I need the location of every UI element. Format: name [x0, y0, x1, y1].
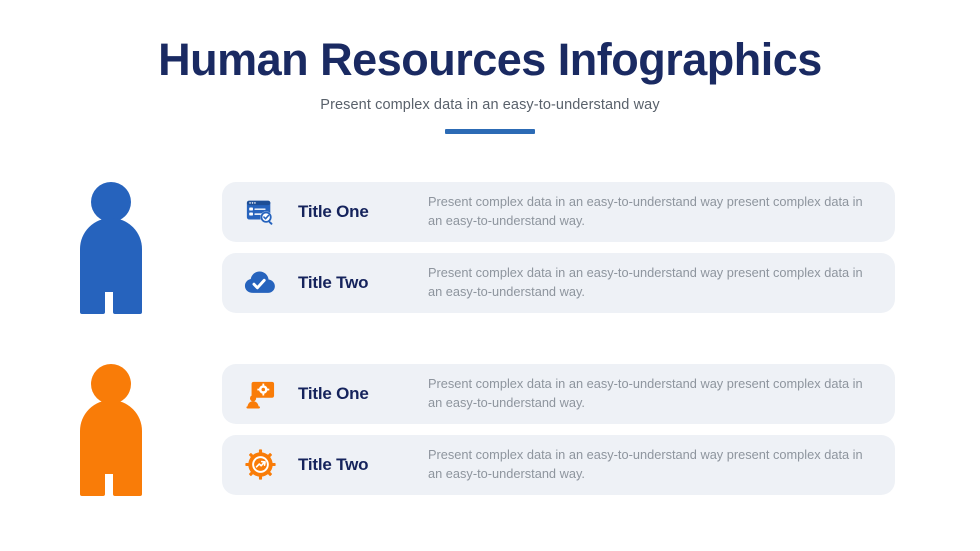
person-leg-left [80, 278, 105, 314]
row-description: Present complex data in an easy-to-under… [428, 264, 895, 301]
table-row[interactable]: Title Two Present complex data in an eas… [222, 253, 895, 313]
person-figure-blue-icon [76, 182, 146, 313]
presentation-gear-person-icon [222, 379, 298, 409]
cloud-check-icon [222, 268, 298, 298]
person-leg-left [80, 460, 105, 496]
row-title: Title Two [298, 273, 428, 293]
document-search-check-icon [222, 197, 298, 227]
infographic-group-blue: Title One Present complex data in an eas… [0, 172, 980, 322]
person-leg-right [113, 278, 142, 314]
row-description: Present complex data in an easy-to-under… [428, 193, 895, 230]
row-title: Title One [298, 202, 428, 222]
person-head [91, 364, 131, 404]
header: Human Resources Infographics Present com… [0, 36, 980, 134]
table-row[interactable]: Title One Present complex data in an eas… [222, 182, 895, 242]
gear-growth-arrow-icon [222, 449, 298, 480]
person-head [91, 182, 131, 222]
row-list-orange: Title One Present complex data in an eas… [222, 364, 980, 495]
title-divider [445, 129, 535, 134]
person-figure-orange-icon [76, 364, 146, 495]
row-title: Title Two [298, 455, 428, 475]
table-row[interactable]: Title One Present complex data in an eas… [222, 364, 895, 424]
row-title: Title One [298, 384, 428, 404]
person-figure-orange-wrap [0, 364, 222, 495]
person-figure-blue-wrap [0, 182, 222, 313]
page-subtitle: Present complex data in an easy-to-under… [0, 97, 980, 113]
row-list-blue: Title One Present complex data in an eas… [222, 182, 980, 313]
infographic-group-orange: Title One Present complex data in an eas… [0, 354, 980, 504]
page-title: Human Resources Infographics [0, 36, 980, 83]
row-description: Present complex data in an easy-to-under… [428, 375, 895, 412]
table-row[interactable]: Title Two Present complex data in an eas… [222, 435, 895, 495]
person-leg-right [113, 460, 142, 496]
row-description: Present complex data in an easy-to-under… [428, 446, 895, 483]
